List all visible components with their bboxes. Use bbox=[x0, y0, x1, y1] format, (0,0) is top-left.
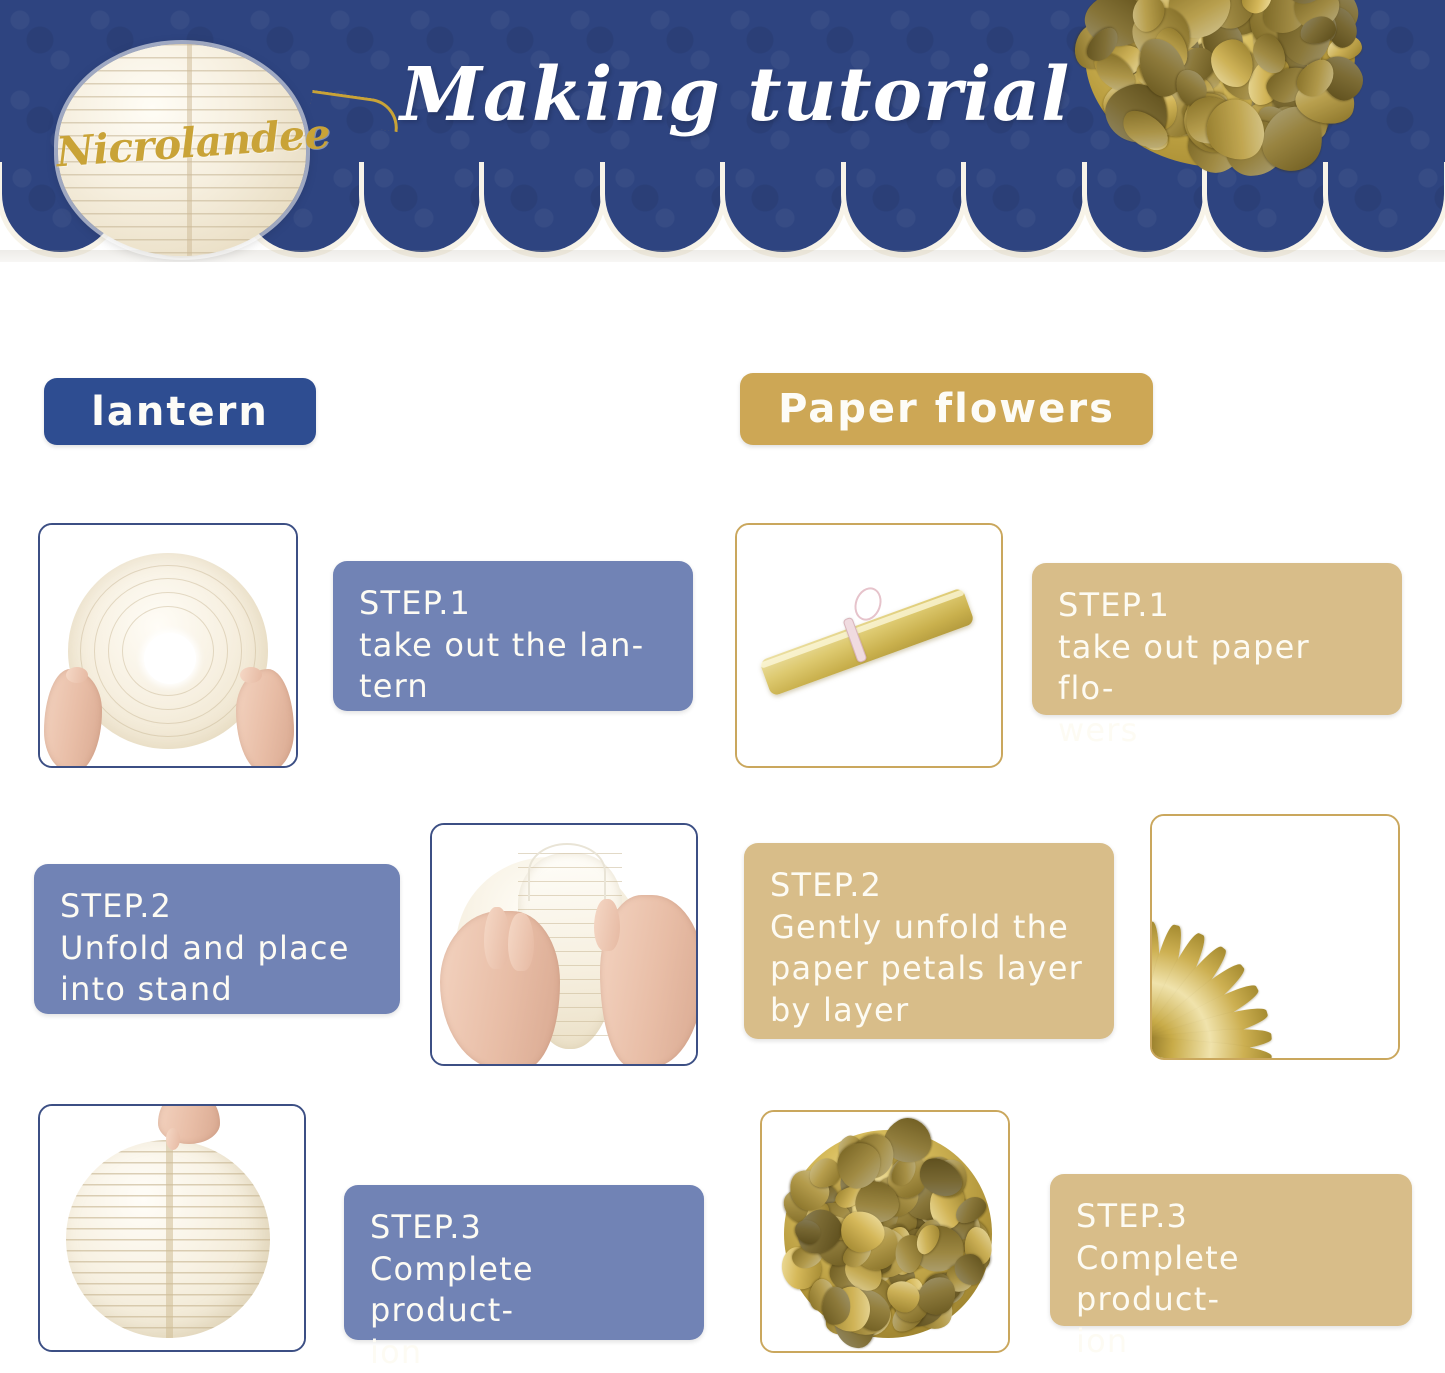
photo-content bbox=[737, 525, 1001, 766]
left-finger bbox=[508, 913, 534, 971]
step-label: STEP.1 bbox=[1058, 586, 1170, 624]
photo-lantern-step1 bbox=[38, 523, 298, 768]
right-hand-icon bbox=[236, 669, 294, 766]
photo-content bbox=[40, 525, 296, 766]
step-label: STEP.2 bbox=[770, 866, 882, 904]
step-description: take out the lan- tern bbox=[359, 626, 644, 706]
header-banner: Nicrolandee Making tutorial bbox=[0, 0, 1445, 262]
section-label-paper-flowers: Paper flowers bbox=[740, 373, 1153, 445]
gold-pompom-flower-icon bbox=[1085, 0, 1355, 167]
right-finger bbox=[594, 899, 620, 951]
step-text-flower-2: STEP.2 Gently unfold the paper petals la… bbox=[744, 843, 1114, 1039]
step-label: STEP.2 bbox=[60, 887, 172, 925]
step-label: STEP.1 bbox=[359, 584, 471, 622]
step-description: Unfold and place into stand bbox=[60, 929, 350, 1009]
step-label: STEP.3 bbox=[1076, 1197, 1188, 1235]
wire-stand-icon bbox=[528, 843, 606, 901]
step-description: Gently unfold the paper petals layer by … bbox=[770, 908, 1083, 1029]
photo-content bbox=[762, 1112, 1008, 1351]
left-hand-icon bbox=[44, 669, 102, 766]
step-description: take out paper flo- wers bbox=[1058, 628, 1310, 749]
right-fingertip bbox=[240, 667, 262, 683]
page-title: Making tutorial bbox=[400, 52, 1070, 138]
step-text-lantern-1: STEP.1 take out the lan- tern bbox=[333, 561, 693, 711]
finished-gold-pompom-icon bbox=[784, 1130, 992, 1338]
photo-flower-step3 bbox=[760, 1110, 1010, 1353]
step-text-lantern-2: STEP.2 Unfold and place into stand bbox=[34, 864, 400, 1014]
step-text-lantern-3: STEP.3 Complete product- ion bbox=[344, 1185, 704, 1340]
fingertip bbox=[166, 1128, 180, 1150]
gold-petals-fanned-icon bbox=[1152, 828, 1374, 1058]
lantern-center-hole bbox=[144, 633, 196, 684]
photo-content bbox=[1152, 816, 1398, 1058]
left-finger bbox=[484, 907, 510, 969]
photo-lantern-step2 bbox=[430, 823, 698, 1066]
photo-lantern-step3 bbox=[38, 1104, 306, 1352]
lantern-seam bbox=[166, 1140, 173, 1338]
step-label: STEP.3 bbox=[370, 1208, 482, 1246]
photo-flower-step2 bbox=[1150, 814, 1400, 1060]
section-label-lantern: lantern bbox=[44, 378, 316, 445]
step-text-flower-3: STEP.3 Complete product- ion bbox=[1050, 1174, 1412, 1326]
left-fingertip bbox=[66, 667, 88, 683]
step-description: Complete product- ion bbox=[1076, 1239, 1240, 1360]
photo-content bbox=[40, 1106, 304, 1350]
step-text-flower-1: STEP.1 take out paper flo- wers bbox=[1032, 563, 1402, 715]
step-description: Complete product- ion bbox=[370, 1250, 534, 1371]
photo-content bbox=[432, 825, 696, 1064]
photo-flower-step1 bbox=[735, 523, 1003, 768]
finished-round-lantern-icon bbox=[66, 1140, 270, 1338]
